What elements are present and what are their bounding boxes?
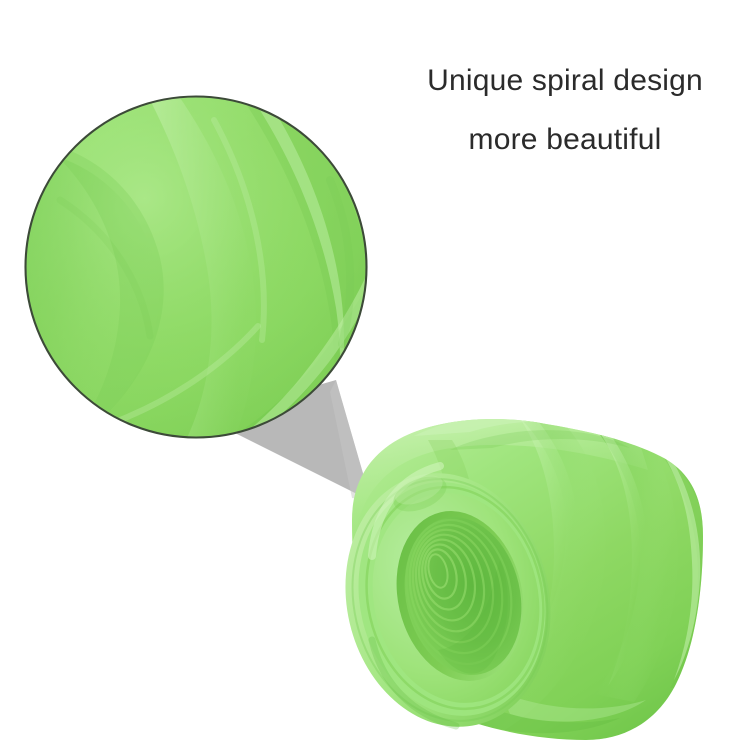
- product-illustration: [0, 0, 750, 750]
- product-image-canvas: Unique spiral design more beautiful: [0, 0, 750, 750]
